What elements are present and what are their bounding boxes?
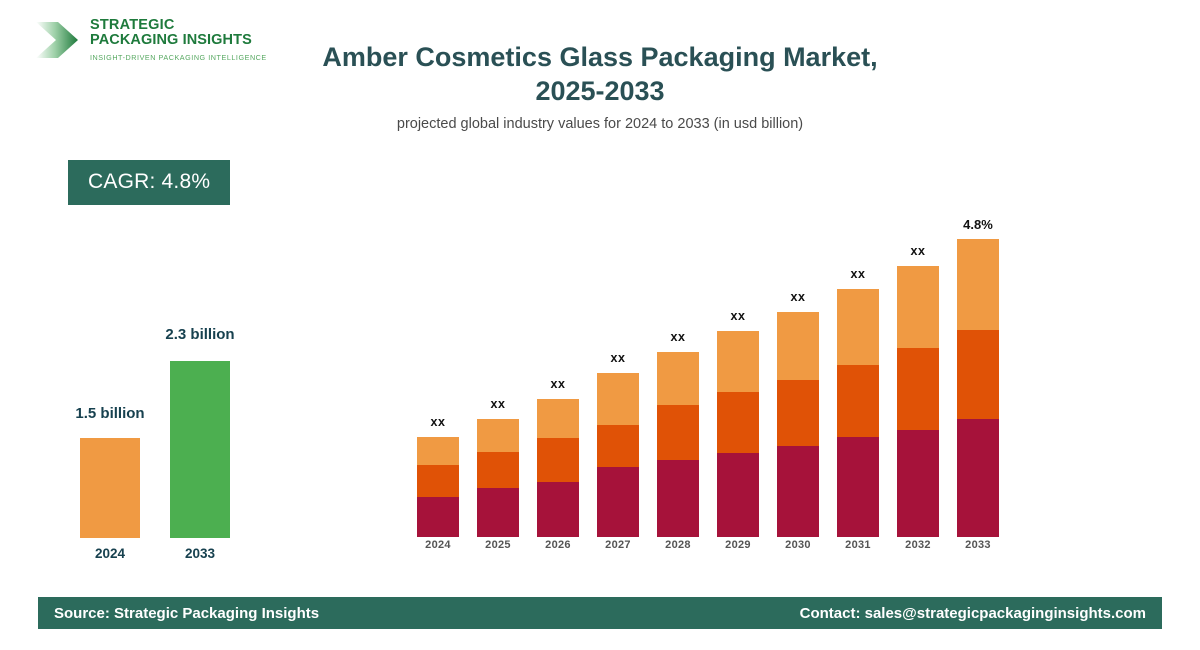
bar-x-label-2024: 2024 xyxy=(425,539,451,551)
bar-x-label-2032: 2032 xyxy=(905,539,931,551)
bar-x-label-2026: 2026 xyxy=(545,539,571,551)
bar-segment-top-2033 xyxy=(957,239,999,330)
bar-segment-top-2031 xyxy=(837,289,879,365)
stacked-bar-chart: xx2024xx2025xx2026xx2027xx2028xx2029xx20… xyxy=(0,0,1200,650)
bar-segment-top-2029 xyxy=(717,331,759,392)
bar-segment-bottom-2030 xyxy=(777,446,819,537)
bar-segment-bottom-2024 xyxy=(417,497,459,537)
stacked-bar-2024 xyxy=(417,437,459,537)
bar-segment-bottom-2028 xyxy=(657,460,699,537)
bar-segment-bottom-2025 xyxy=(477,488,519,537)
bar-value-label-2030: xx xyxy=(791,290,806,304)
bar-segment-top-2024 xyxy=(417,437,459,465)
stacked-bar-2028 xyxy=(657,352,699,537)
bar-segment-bottom-2029 xyxy=(717,453,759,537)
bar-x-label-2027: 2027 xyxy=(605,539,631,551)
stacked-bar-2032 xyxy=(897,266,939,537)
bar-value-label-2025: xx xyxy=(491,397,506,411)
bar-segment-middle-2032 xyxy=(897,348,939,430)
stacked-bar-2026 xyxy=(537,399,579,537)
bar-segment-top-2026 xyxy=(537,399,579,438)
bar-segment-bottom-2031 xyxy=(837,437,879,537)
bar-value-label-2029: xx xyxy=(731,309,746,323)
bar-segment-top-2032 xyxy=(897,266,939,348)
infographic-page: STRATEGIC PACKAGING INSIGHTS INSIGHT-DRI… xyxy=(0,0,1200,650)
stacked-bar-2029 xyxy=(717,331,759,537)
stacked-bar-2031 xyxy=(837,289,879,537)
bar-value-label-2024: xx xyxy=(431,415,446,429)
stacked-bar-2033 xyxy=(957,239,999,537)
bar-value-label-2033: 4.8% xyxy=(963,217,993,232)
bar-segment-middle-2030 xyxy=(777,380,819,446)
bar-segment-bottom-2027 xyxy=(597,467,639,537)
bar-value-label-2032: xx xyxy=(911,244,926,258)
bar-x-label-2029: 2029 xyxy=(725,539,751,551)
stacked-bar-2025 xyxy=(477,419,519,537)
bar-value-label-2031: xx xyxy=(851,267,866,281)
bar-x-label-2030: 2030 xyxy=(785,539,811,551)
stacked-bar-2030 xyxy=(777,312,819,537)
bar-segment-top-2025 xyxy=(477,419,519,452)
bar-segment-middle-2031 xyxy=(837,365,879,437)
bar-segment-bottom-2033 xyxy=(957,419,999,537)
bar-segment-middle-2027 xyxy=(597,425,639,467)
bar-x-label-2025: 2025 xyxy=(485,539,511,551)
bar-x-label-2028: 2028 xyxy=(665,539,691,551)
bar-value-label-2026: xx xyxy=(551,377,566,391)
footer-contact: Contact: sales@strategicpackaginginsight… xyxy=(800,605,1146,622)
bar-segment-middle-2033 xyxy=(957,330,999,419)
footer-source: Source: Strategic Packaging Insights xyxy=(54,605,319,622)
bar-x-label-2033: 2033 xyxy=(965,539,991,551)
bar-segment-top-2030 xyxy=(777,312,819,380)
bar-segment-bottom-2026 xyxy=(537,482,579,537)
bar-x-label-2031: 2031 xyxy=(845,539,871,551)
bar-segment-middle-2029 xyxy=(717,392,759,453)
stacked-bar-2027 xyxy=(597,373,639,537)
bar-segment-bottom-2032 xyxy=(897,430,939,537)
bar-segment-top-2027 xyxy=(597,373,639,425)
bar-segment-middle-2026 xyxy=(537,438,579,482)
bar-segment-middle-2028 xyxy=(657,405,699,460)
bar-segment-middle-2025 xyxy=(477,452,519,488)
bar-value-label-2028: xx xyxy=(671,330,686,344)
bar-value-label-2027: xx xyxy=(611,351,626,365)
bar-segment-top-2028 xyxy=(657,352,699,405)
footer-bar: Source: Strategic Packaging Insights Con… xyxy=(38,597,1162,629)
bar-segment-middle-2024 xyxy=(417,465,459,497)
